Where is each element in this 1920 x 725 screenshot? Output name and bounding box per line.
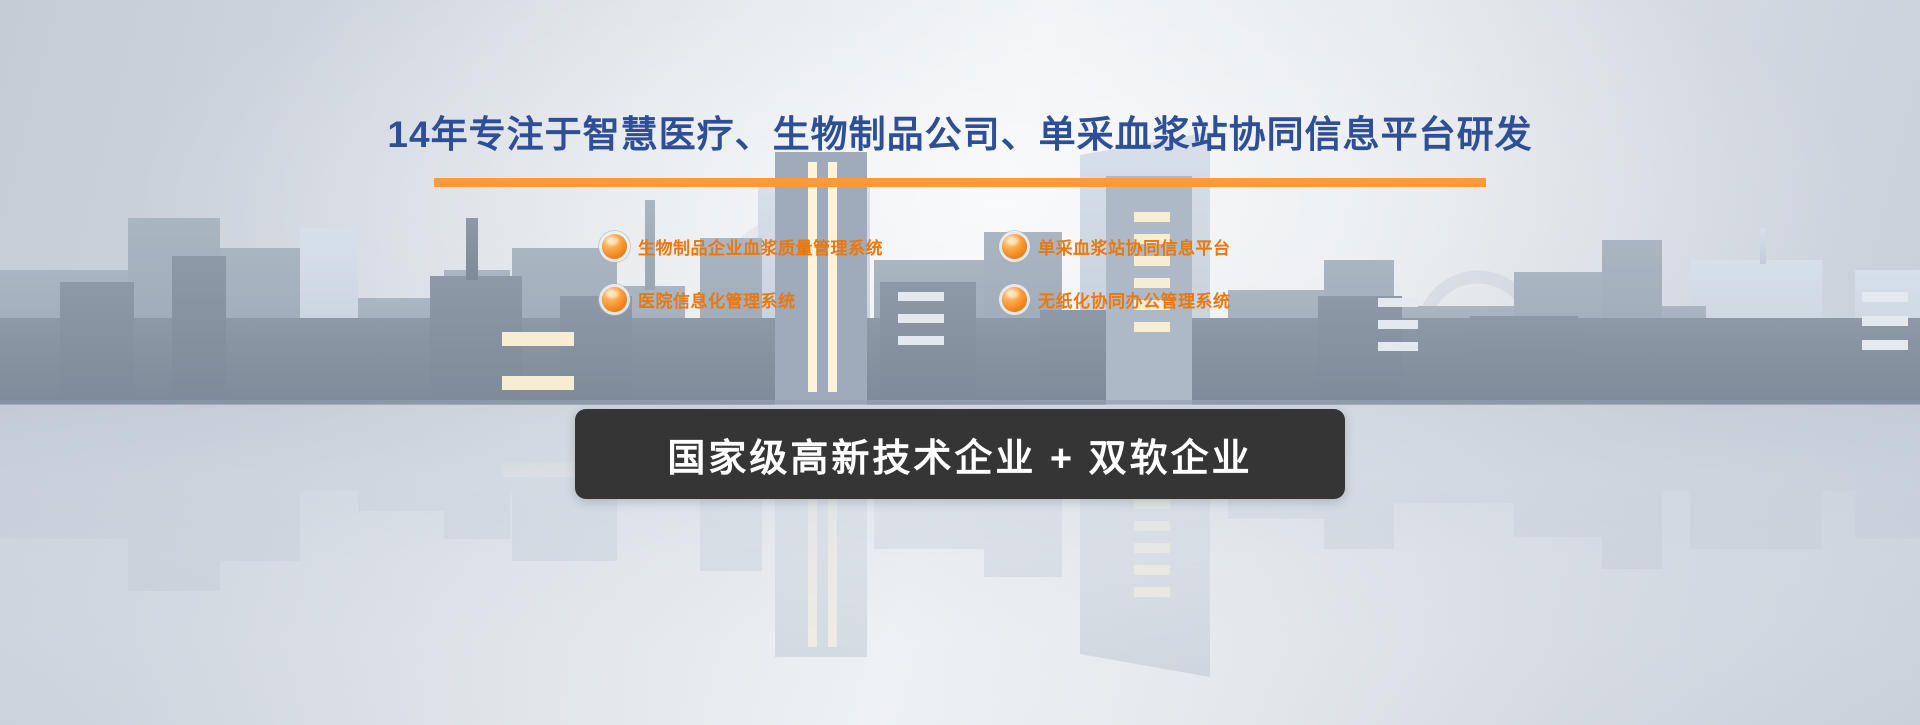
page-title: 14年专注于智慧医疗、生物制品公司、单采血浆站协同信息平台研发	[0, 104, 1920, 158]
feature-list: 生物制品企业血浆质量管理系统 单采血浆站协同信息平台 医院信息化管理系统 无纸化…	[602, 234, 1322, 312]
orange-sphere-bullet-icon	[1002, 287, 1027, 312]
hero-banner: 14年专注于智慧医疗、生物制品公司、单采血浆站协同信息平台研发 生物制品企业血浆…	[0, 0, 1920, 725]
orange-sphere-bullet-icon	[602, 287, 627, 312]
feature-label: 生物制品企业血浆质量管理系统	[638, 234, 883, 259]
feature-label: 医院信息化管理系统	[638, 287, 796, 312]
feature-label: 单采血浆站协同信息平台	[1038, 234, 1231, 259]
feature-item-paperless-office[interactable]: 无纸化协同办公管理系统	[1002, 287, 1322, 312]
feature-item-hospital-information[interactable]: 医院信息化管理系统	[602, 287, 1002, 312]
feature-label: 无纸化协同办公管理系统	[1038, 287, 1231, 312]
certification-badge: 国家级高新技术企业 + 双软企业	[575, 409, 1345, 499]
title-underline-bar	[434, 178, 1486, 187]
feature-item-plasma-station-platform[interactable]: 单采血浆站协同信息平台	[1002, 234, 1322, 259]
feature-item-plasma-quality[interactable]: 生物制品企业血浆质量管理系统	[602, 234, 1002, 259]
orange-sphere-bullet-icon	[602, 234, 627, 259]
certification-badge-text: 国家级高新技术企业 + 双软企业	[667, 427, 1252, 482]
orange-sphere-bullet-icon	[1002, 234, 1027, 259]
